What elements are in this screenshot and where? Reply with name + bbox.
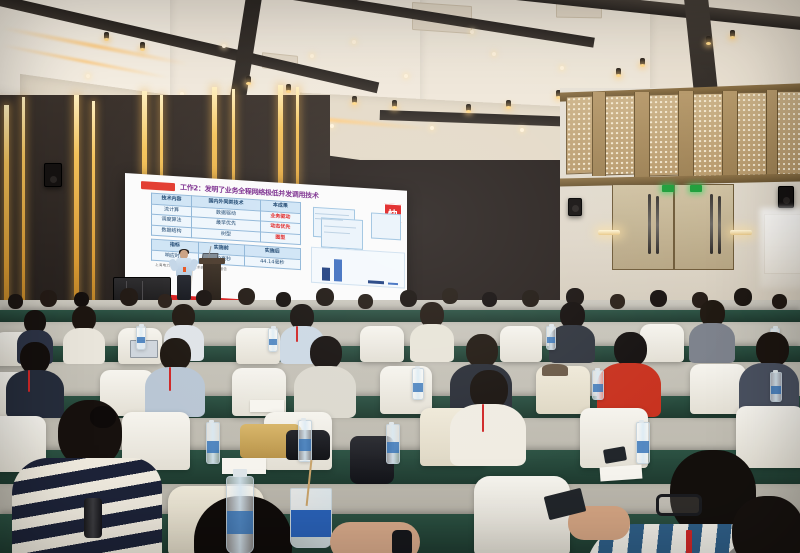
wall-speaker-icon	[44, 163, 62, 187]
slide-diagram	[321, 217, 363, 250]
water-bottle	[546, 326, 556, 350]
presenter	[171, 250, 197, 300]
cell: 44.14毫秒	[244, 255, 300, 269]
thermos-bottle	[84, 498, 102, 538]
wall-sconce	[730, 230, 752, 235]
ballroom-door[interactable]	[612, 184, 674, 270]
handout-paper	[250, 400, 284, 412]
wristwatch	[392, 530, 412, 553]
handout-paper	[600, 465, 643, 482]
slide-title-marker	[141, 181, 175, 191]
water-bottle	[636, 422, 650, 464]
exit-sign-icon	[690, 185, 702, 192]
ballroom-door[interactable]	[674, 184, 734, 270]
slide-bar-chart	[311, 247, 405, 289]
presenter-legs	[177, 275, 191, 300]
table-row	[0, 310, 800, 322]
exit-sign-icon	[662, 185, 674, 192]
water-bottle	[412, 368, 424, 400]
water-bottle	[136, 326, 146, 350]
water-bottle	[592, 370, 604, 400]
water-bottle	[386, 424, 400, 464]
slide-diagram	[371, 212, 401, 240]
bubble-tea-cup	[290, 488, 332, 548]
slide-comparison-table: 技术内容 国内外同类技术 本成果 流计算 数据驱动 业务驱动 调度算法 最早优先…	[151, 193, 301, 245]
water-bottle	[268, 328, 278, 352]
wall-sconce	[598, 230, 620, 235]
wall-speaker-icon	[778, 186, 794, 208]
attendee-hair-bun	[90, 406, 116, 428]
audience-area	[0, 300, 800, 553]
cell: 图型	[260, 232, 300, 245]
water-bottle	[770, 372, 782, 402]
water-bottle	[226, 476, 254, 553]
water-bottle	[206, 422, 220, 464]
glasses-icon	[656, 494, 702, 516]
presenter-badge	[183, 267, 186, 272]
cell: 数据结构	[152, 225, 192, 238]
wall-speaker-icon	[568, 198, 582, 216]
attendee-head	[732, 496, 800, 553]
water-bottle	[298, 420, 312, 462]
lanyard	[686, 530, 692, 553]
conference-hall-scene: 工作2：发明了业务全程网络极低并发调用技术 快 技术内容 国内外同类技术 本成果…	[0, 0, 800, 553]
